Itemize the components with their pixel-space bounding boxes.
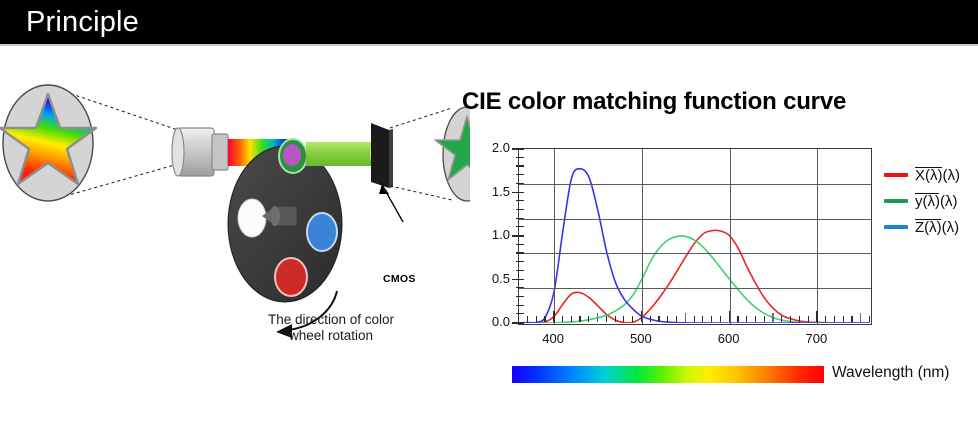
caption-line-1: The direction of color <box>268 312 394 327</box>
y-tick-minor <box>516 261 524 262</box>
y-tick-minor <box>516 209 524 210</box>
x-tick-label: 400 <box>533 331 573 346</box>
y-tick-major <box>512 235 524 237</box>
legend-swatch-z <box>884 225 908 229</box>
x-tick-minor <box>606 316 607 322</box>
wheel-filter-white <box>238 199 266 237</box>
y-tick-major <box>512 322 524 324</box>
y-tick-major <box>512 192 524 194</box>
legend-label-x: X(λ)(λ) <box>915 168 960 183</box>
caption-line-2: wheel rotation <box>289 328 373 343</box>
y-tick-minor <box>516 270 524 271</box>
y-tick-minor <box>516 244 524 245</box>
cmos-pointer-arrow <box>379 184 403 222</box>
x-tick-minor <box>834 316 835 322</box>
x-tick-minor <box>650 316 651 322</box>
y-tick-label: 2.0 <box>450 140 510 155</box>
legend-swatch-x <box>884 173 908 177</box>
wheel-filter-magenta <box>283 144 301 166</box>
wavelength-axis-label: Wavelength (nm) <box>832 364 949 382</box>
x-tick-minor <box>676 316 677 322</box>
x-tick-minor <box>781 316 782 322</box>
x-tick-minor <box>658 316 659 322</box>
legend-symbol-z: Z(λ) <box>915 219 942 236</box>
wheel-filter-red <box>275 258 307 296</box>
x-tick-minor <box>860 313 861 322</box>
x-tick-minor <box>518 316 519 322</box>
x-tick-minor <box>711 316 712 322</box>
y-tick-minor <box>516 305 524 306</box>
y-tick-minor <box>516 183 524 184</box>
x-tick-major <box>553 311 555 322</box>
x-tick-minor <box>685 313 686 322</box>
y-tick-label: 0.5 <box>450 271 510 286</box>
x-tick-minor <box>579 316 580 322</box>
filtered-green-beam <box>306 142 376 166</box>
legend-item-z[interactable]: Z(λ)(λ) <box>884 214 978 240</box>
x-tick-minor <box>851 316 852 322</box>
x-tick-minor <box>536 316 537 322</box>
legend-label-z: Z(λ)(λ) <box>915 220 959 235</box>
legend-label-y: y(λ)(λ) <box>915 194 958 209</box>
page-title: Principle <box>26 5 139 39</box>
legend-symbol-y: y(λ) <box>915 193 940 210</box>
gridline-vertical-400 <box>554 149 555 324</box>
x-tick-minor <box>772 313 773 322</box>
x-tick-minor <box>597 313 598 322</box>
x-tick-minor <box>527 316 528 322</box>
legend-symbol-x: X(λ) <box>915 167 943 184</box>
x-tick-label: 500 <box>621 331 661 346</box>
x-tick-major <box>729 311 731 322</box>
x-tick-minor <box>632 316 633 322</box>
x-tick-minor <box>720 316 721 322</box>
y-tick-minor <box>516 200 524 201</box>
wheel-rotation-caption: The direction of color wheel rotation <box>236 312 426 344</box>
gridline-vertical-600 <box>730 149 731 324</box>
x-tick-major <box>641 311 643 322</box>
legend-swatch-y <box>884 199 908 203</box>
cmos-sensor <box>371 123 393 188</box>
y-tick-label: 1.5 <box>450 184 510 199</box>
x-tick-minor <box>623 316 624 322</box>
optical-principle-diagram: The direction of color wheel rotation CM… <box>0 46 470 366</box>
x-tick-minor <box>808 316 809 322</box>
source-object <box>0 85 96 201</box>
x-tick-label: 700 <box>796 331 836 346</box>
legend-item-x[interactable]: X(λ)(λ) <box>884 162 978 188</box>
y-tick-minor <box>516 165 524 166</box>
y-tick-major <box>512 279 524 281</box>
y-tick-minor <box>516 296 524 297</box>
x-tick-minor <box>615 316 616 322</box>
chart-title: CIE color matching function curve <box>462 88 962 116</box>
x-tick-minor <box>755 316 756 322</box>
x-tick-minor <box>562 316 563 322</box>
x-tick-minor <box>799 316 800 322</box>
chart-legend: X(λ)(λ) y(λ)(λ) Z(λ)(λ) <box>884 162 978 240</box>
y-tick-minor <box>516 174 524 175</box>
x-tick-minor <box>764 316 765 322</box>
lens-barrel <box>172 128 228 176</box>
x-tick-major <box>816 311 818 322</box>
plot-frame <box>518 148 872 325</box>
gridline-vertical-700 <box>817 149 818 324</box>
wheel-filter-blue <box>307 213 337 251</box>
x-tick-minor <box>571 316 572 322</box>
x-tick-minor <box>544 316 545 322</box>
x-tick-minor <box>667 316 668 322</box>
x-tick-minor <box>843 316 844 322</box>
x-tick-minor <box>746 316 747 322</box>
cmos-label: CMOS <box>383 273 416 285</box>
y-tick-minor <box>516 218 524 219</box>
y-tick-minor <box>516 287 524 288</box>
x-tick-minor <box>702 316 703 322</box>
y-tick-label: 0.0 <box>450 314 510 329</box>
legend-item-y[interactable]: y(λ)(λ) <box>884 188 978 214</box>
y-tick-minor <box>516 252 524 253</box>
y-tick-minor <box>516 226 524 227</box>
y-tick-minor <box>516 313 524 314</box>
spectrum-bar <box>512 366 824 383</box>
title-bar: Principle <box>0 0 978 44</box>
x-tick-minor <box>694 316 695 322</box>
gridline-vertical-500 <box>642 149 643 324</box>
x-tick-minor <box>869 316 870 322</box>
y-tick-minor <box>516 157 524 158</box>
y-tick-major <box>512 148 524 150</box>
x-tick-label: 600 <box>709 331 749 346</box>
x-tick-minor <box>588 316 589 322</box>
x-tick-minor <box>737 316 738 322</box>
x-tick-minor <box>825 316 826 322</box>
x-tick-minor <box>790 316 791 322</box>
y-tick-label: 1.0 <box>450 227 510 242</box>
